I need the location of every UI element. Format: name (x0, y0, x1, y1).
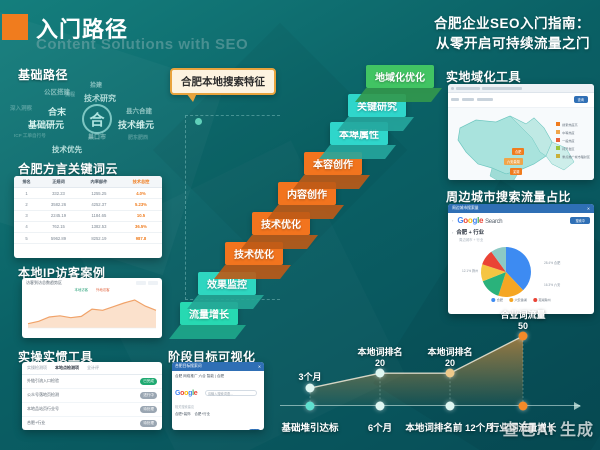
legend-label: 中等热度 (562, 130, 574, 135)
chevron-left-icon[interactable]: ‹ (452, 218, 453, 223)
city-pie-query: 合肥 + 行业 (456, 228, 484, 236)
section-title-city-pie: 周边城市搜索流量占比 (446, 188, 571, 205)
google-logo-icon: Google (175, 390, 197, 397)
chart-x-label: 本地词排名前 12个月 (405, 420, 494, 434)
city-pie-query-row: › 合肥 + 行业 (448, 228, 594, 236)
geo-tools-card[interactable]: 查询 合肥 六安巢湖 芜湖 搜索热度高中等热度一般热度待开发区重点推广城市辐射区 (448, 84, 594, 180)
geo-legend: 搜索热度高中等热度一般热度待开发区重点推广城市辐射区 (556, 122, 590, 159)
stage-goal-window-title: 合肥目标搜索词 (175, 364, 202, 369)
geo-tool-btn[interactable] (462, 98, 474, 101)
watermark: 查包AI 生成 (503, 416, 594, 440)
table-cell: 4.0% (120, 188, 162, 199)
staircase-step-label: 关键研究 (357, 102, 397, 113)
stage-goal-titlebar: 合肥目标搜索词 ✕ (172, 362, 264, 371)
svg-text:12.1% 滁州: 12.1% 滁州 (462, 268, 478, 273)
legend-item: 重点推广城市辐射区 (556, 154, 590, 159)
geo-map[interactable]: 合肥 六安巢湖 芜湖 搜索热度高中等热度一般热度待开发区重点推广城市辐射区 (448, 108, 594, 180)
chart-point-label: 本地词排名20 (357, 347, 402, 370)
wordcloud-term: 深入洞察 (10, 104, 32, 112)
document-title-line2: 从零开启可持续流量之门 (434, 34, 590, 54)
geo-tool-btn[interactable] (477, 98, 493, 101)
list-item[interactable]: 本地品站页行业号待处理 (22, 403, 162, 417)
table-body: 1332.231255.254.0%23582.264252.375.23%32… (14, 188, 162, 244)
geo-tool-btn[interactable] (451, 98, 459, 101)
stage-goal-suggest-label: 相关搜索建议 (172, 400, 264, 409)
table-row[interactable]: 55962.898252.19987.8 (14, 232, 162, 243)
city-pie-chart: 28.4% 合肥16.3% 六安12.1% 滁州 合肥六安巢湖芜湖滁州 (448, 242, 594, 304)
chart-axis-node[interactable] (446, 402, 455, 411)
wordcloud-term: 巢口市 (88, 132, 106, 141)
chart-data-point[interactable] (519, 332, 528, 341)
geo-url-text (482, 87, 522, 90)
wordcloud-term: ICP 工单自行号 (14, 133, 46, 139)
staircase-step-label: 本容创作 (313, 160, 353, 171)
legend-item: 搜索热度高 (556, 122, 590, 127)
status-badge: 进行中 (140, 392, 157, 400)
legend-swatch-icon (556, 130, 560, 134)
geo-toolbar[interactable]: 查询 (448, 93, 594, 108)
chart-point-title: 本地词排名 (357, 347, 402, 357)
table-cell: 3 (14, 210, 39, 221)
table-cell: 332.23 (39, 188, 78, 199)
staircase-step[interactable]: 地域化优化 (366, 65, 434, 88)
slide-canvas: 入门路径 Content Solutions with SEO 合肥企业SEO入… (0, 0, 600, 450)
chevron-right-icon[interactable]: › (452, 230, 453, 235)
city-pie-search-button[interactable]: 搜索中 (570, 217, 590, 224)
chart-axis-node[interactable] (376, 402, 385, 411)
table-cell: 2245.19 (39, 210, 78, 221)
table-cell: 5.23% (120, 199, 162, 210)
chart-data-point[interactable] (306, 384, 315, 393)
table-row[interactable]: 4762.151382.5336.5% (14, 221, 162, 232)
staircase-step-label: 技术优化 (234, 250, 274, 261)
staircase-step-label: 技术优化 (261, 220, 301, 231)
table-cell: 8252.19 (78, 232, 120, 243)
list-item-label: 本地品站页行业号 (27, 406, 59, 412)
table-row[interactable]: 23582.264252.375.23% (14, 199, 162, 210)
geo-primary-button[interactable]: 查询 (571, 95, 591, 105)
city-pie-window-title: 周边城市搜索量 (452, 206, 479, 211)
chart-point-value: 50 (518, 321, 528, 331)
practice-tab[interactable]: 实操检测项 (27, 365, 47, 371)
practice-tab[interactable]: 全计评 (87, 365, 99, 371)
legend-item: 中等热度 (556, 130, 590, 135)
staircase-step-label: 内容创作 (287, 190, 327, 201)
legend-item: 待开发区 (556, 146, 590, 151)
table-column-header: 排名 (14, 176, 39, 188)
keyword-table: 排名正规词内率部件技术总控 1332.231255.254.0%23582.26… (14, 176, 162, 244)
list-item[interactable]: 外链引流入口检验已完成 (22, 375, 162, 389)
list-item[interactable]: 公众号落地页检测进行中 (22, 389, 162, 403)
table-cell: 1382.53 (78, 221, 120, 232)
table-column-header: 内率部件 (78, 176, 120, 188)
status-badge: 待处理 (140, 406, 157, 414)
chart-point-title: 本地词排名 (427, 347, 472, 357)
visitor-chart-label: 访客到访总数趋势区 (26, 280, 62, 286)
table-cell: 5 (14, 232, 39, 243)
wordcloud-term: 基础研元 (28, 118, 64, 131)
table-row[interactable]: 1332.231255.254.0% (14, 188, 162, 199)
table-cell: 2 (14, 199, 39, 210)
table-cell: 36.5% (120, 221, 162, 232)
city-pie-card[interactable]: 周边城市搜索量 ✕ ‹ Google Search 搜索中 › 合肥 + 行业 … (448, 204, 594, 314)
close-icon[interactable]: ✕ (258, 364, 261, 369)
wordcloud-term: 流程 (65, 91, 75, 98)
map-label-hefei[interactable]: 合肥 (512, 148, 524, 155)
status-badge: 已完成 (140, 378, 157, 386)
staircase-step-label: 流量增长 (189, 310, 229, 321)
table-column-header: 正规词 (39, 176, 78, 188)
table-cell: 3582.26 (39, 199, 78, 210)
chart-point-value: 20 (445, 358, 455, 368)
visitor-chart-controls[interactable] (136, 281, 158, 285)
legend-item: 一般热度 (556, 138, 590, 143)
practice-tools-tabs[interactable]: 实操检测项本地点检测项全计评 (22, 362, 162, 375)
list-item-label: 合肥+行业 (27, 420, 45, 426)
visitor-chart-card[interactable]: 访客到访总数趋势区 本地访客 外地访客 (22, 278, 162, 338)
map-label-luan[interactable]: 六安巢湖 (504, 158, 523, 165)
stage-goal-card[interactable]: 合肥目标搜索词 ✕ 合肥 网络推广 六合 智能 | 合肥 Google 请输入搜… (172, 362, 264, 430)
chart-x-axis (280, 405, 580, 406)
suggestion-1[interactable]: 合肥+装饰 (175, 411, 191, 416)
chart-point-title: 3个月 (298, 372, 321, 382)
wordcloud-term: 县六合建 (126, 105, 152, 115)
chart-control-btn[interactable] (148, 281, 158, 285)
list-item-label: 外链引流入口检验 (27, 378, 59, 384)
page-subtitle: Content Solutions with SEO (36, 36, 248, 53)
city-pie-searchrow[interactable]: ‹ Google Search 搜索中 (448, 213, 594, 228)
chart-axis-node[interactable] (306, 402, 315, 411)
practice-tools-list: 外链引流入口检验已完成公众号落地页检测进行中本地品站页行业号待处理合肥+行业待处… (22, 375, 162, 430)
legend-swatch-icon (556, 122, 560, 126)
google-search-logo-icon: Google Search (457, 216, 502, 225)
chart-data-point[interactable] (376, 369, 385, 378)
window-dot-icon (451, 87, 454, 90)
table-row[interactable]: 32245.191184.6510.5 (14, 210, 162, 221)
wordcloud-term: 合末 (48, 105, 66, 118)
list-item[interactable]: 合肥+行业待处理 (22, 417, 162, 430)
table-column-header: 技术总控 (120, 176, 162, 188)
table-cell: 762.15 (39, 221, 78, 232)
status-badge: 待处理 (140, 420, 157, 428)
chart-point-label: 3个月 (298, 372, 321, 383)
svg-text:28.4% 合肥: 28.4% 合肥 (544, 260, 561, 265)
legend-label: 待开发区 (562, 146, 574, 151)
legend-swatch-icon (556, 154, 560, 158)
wordcloud-term: 技术研究 (84, 93, 116, 104)
pie-chart-svg: 28.4% 合肥16.3% 六安12.1% 滁州 (448, 242, 594, 304)
staircase-step-label: 地域化优化 (375, 73, 425, 84)
table-header-row: 排名正规词内率部件技术总控 (14, 176, 162, 188)
visitor-area-svg (22, 292, 162, 332)
legend-label: 一般热度 (562, 138, 574, 143)
stage-goal-suggestions[interactable]: 合肥+装饰 合肥+行业 (172, 409, 264, 418)
visitor-area-chart (22, 292, 162, 332)
stage-goal-hint: 合肥 网络推广 六合 智能 | 合肥 (172, 371, 264, 382)
wordcloud-term: 技术优先 (52, 144, 82, 155)
chart-point-value: 20 (375, 358, 385, 368)
geo-window-titlebar (448, 84, 594, 93)
table-cell: 1255.25 (78, 188, 120, 199)
table-cell: 4252.37 (78, 199, 120, 210)
svg-text:16.3% 六安: 16.3% 六安 (544, 282, 560, 287)
chart-point-title: 合业词流量 (500, 310, 545, 320)
table-cell: 10.5 (120, 210, 162, 221)
keyword-table-card[interactable]: 排名正规词内率部件技术总控 1332.231255.254.0%23582.26… (14, 176, 162, 258)
city-pie-titlebar: 周边城市搜索量 ✕ (448, 204, 594, 213)
legend-label: 重点推广城市辐射区 (562, 154, 590, 159)
header-accent-square (2, 14, 28, 40)
legend-swatch-icon (556, 138, 560, 142)
stage-goal-searchbox[interactable]: Google 请输入搜索词语… (172, 382, 264, 400)
visitor-chart-header: 访客到访总数趋势区 (22, 278, 162, 286)
legend-label: 搜索热度高 (562, 122, 577, 127)
list-item-label: 公众号落地页检测 (27, 392, 59, 398)
search-button-label[interactable]: 搜索 (248, 429, 261, 430)
section-title-keyword-table: 合肥方言关键词云 (18, 160, 118, 177)
chart-axis-node[interactable] (519, 402, 528, 411)
hefei-logo-icon: 合 (82, 104, 112, 134)
section-title-geo-tools: 实地域化工具 (446, 68, 521, 85)
chart-x-label: 基础堆引达标 (281, 420, 338, 434)
stage-goal-submit[interactable]: 搜索 (172, 418, 264, 430)
geo-url-bar[interactable] (456, 87, 480, 90)
table-cell: 5962.89 (39, 232, 78, 243)
table-cell: 1184.65 (78, 210, 120, 221)
chart-point-label: 合业词流量50 (500, 310, 545, 333)
chart-x-label: 6个月 (368, 420, 392, 434)
document-title-line1: 合肥企业SEO入门指南： (434, 14, 590, 34)
chart-point-label: 本地词排名20 (427, 347, 472, 370)
table-cell: 1 (14, 188, 39, 199)
chart-data-point[interactable] (446, 369, 455, 378)
document-title: 合肥企业SEO入门指南： 从零开启可持续流量之门 (434, 14, 590, 53)
wordcloud-term: 技术维元 (118, 118, 154, 131)
wordcloud-term: 拾建 (90, 80, 102, 89)
suggestion-2[interactable]: 合肥+行业 (195, 411, 211, 416)
table-cell: 987.8 (120, 232, 162, 243)
practice-tab[interactable]: 本地点检测项 (55, 365, 79, 371)
practice-tools-card[interactable]: 实操检测项本地点检测项全计评 外链引流入口检验已完成公众号落地页检测进行中本地品… (22, 362, 162, 430)
close-icon[interactable]: ✕ (587, 206, 590, 211)
staircase-step-label: 效果监控 (207, 280, 247, 291)
table-cell: 4 (14, 221, 39, 232)
legend-swatch-icon (556, 146, 560, 150)
chart-control-btn[interactable] (136, 281, 146, 285)
map-label-wuhu[interactable]: 芜湖 (510, 168, 522, 175)
stage-goal-query-input[interactable]: 请输入搜索词语… (205, 390, 257, 396)
wordcloud-term: 肥东肥西 (128, 134, 148, 141)
staircase-step-label: 本埠属性 (339, 130, 379, 141)
